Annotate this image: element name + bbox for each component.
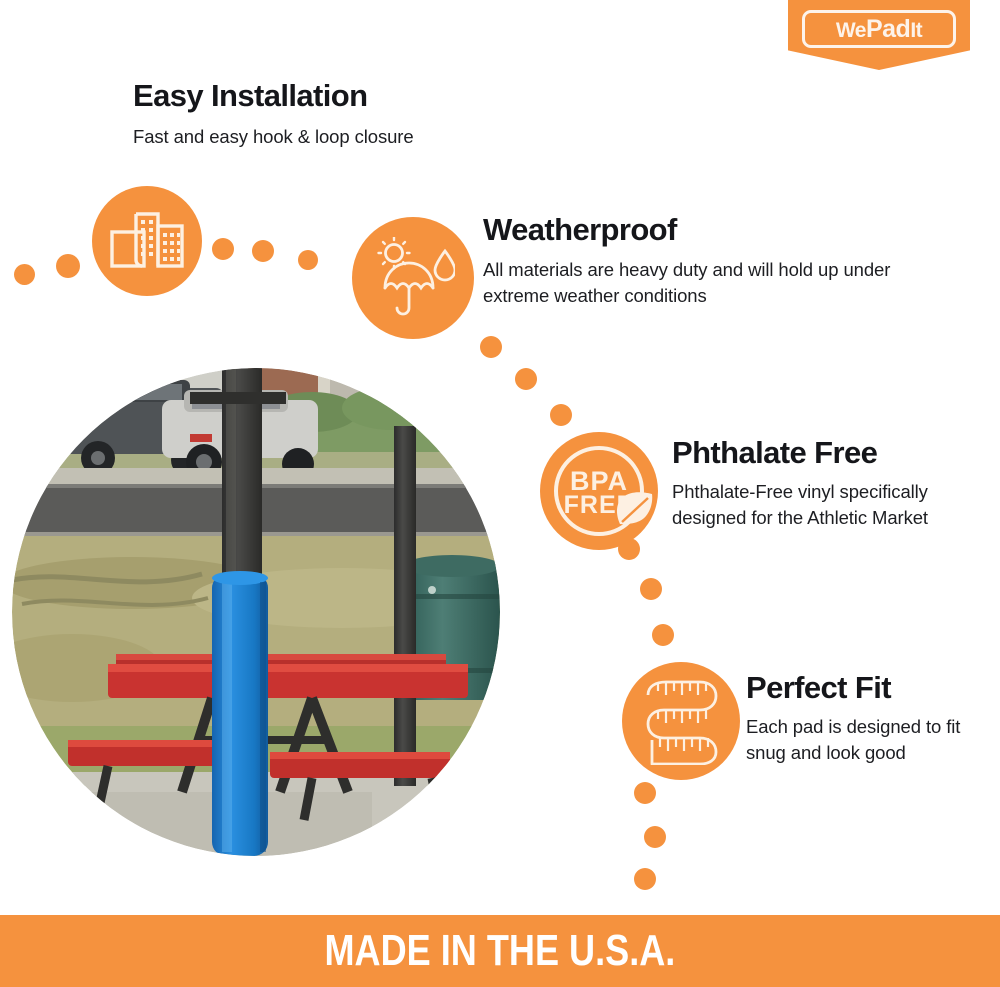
- feature-title: Weatherproof: [483, 214, 913, 247]
- logo-text-we: We: [836, 19, 866, 42]
- feature-weatherproof: Weatherproof All materials are heavy dut…: [483, 214, 913, 309]
- trail-dot: [634, 868, 656, 890]
- trail-dot: [56, 254, 80, 278]
- umbrella-sun-rain-icon: [352, 217, 474, 339]
- feature-title: Perfect Fit: [746, 672, 986, 705]
- made-in-usa-banner: MADE IN THE U.S.A.: [0, 915, 1000, 987]
- trail-dot: [14, 264, 35, 285]
- trail-dot: [652, 624, 674, 646]
- product-photo: [12, 368, 500, 856]
- feature-body: Each pad is designed to fit snug and loo…: [746, 714, 986, 767]
- building-installation-icon: [92, 186, 202, 296]
- measuring-tape-icon: [622, 662, 740, 780]
- feature-title: Easy Installation: [133, 80, 563, 113]
- feature-easy-installation: Easy Installation Fast and easy hook & l…: [133, 80, 563, 150]
- trail-dot: [644, 826, 666, 848]
- feature-title: Phthalate Free: [672, 437, 972, 470]
- logo-text-pad: Pad: [866, 15, 910, 43]
- logo-outline-box: WePadIt: [802, 10, 956, 48]
- bpa-free-leaf-icon: BPA FREE: [540, 432, 658, 550]
- banner-text: MADE IN THE U.S.A.: [325, 929, 676, 973]
- feature-perfect-fit: Perfect Fit Each pad is designed to fit …: [746, 672, 986, 766]
- logo-text-it: It: [910, 19, 922, 42]
- infographic-canvas: WePadIt Easy Installation Fast and easy …: [0, 0, 1000, 987]
- feature-body: Fast and easy hook & loop closure: [133, 124, 563, 150]
- trail-dot: [212, 238, 234, 260]
- trail-dot: [480, 336, 502, 358]
- trail-dot: [550, 404, 572, 426]
- feature-body: Phthalate-Free vinyl specifically design…: [672, 479, 972, 532]
- trail-dot: [252, 240, 274, 262]
- trail-dot: [515, 368, 537, 390]
- brand-logo[interactable]: WePadIt: [788, 0, 970, 70]
- feature-phthalate-free: Phthalate Free Phthalate-Free vinyl spec…: [672, 437, 972, 531]
- trail-dot: [640, 578, 662, 600]
- trail-dot: [634, 782, 656, 804]
- feature-body: All materials are heavy duty and will ho…: [483, 257, 913, 310]
- trail-dot: [298, 250, 318, 270]
